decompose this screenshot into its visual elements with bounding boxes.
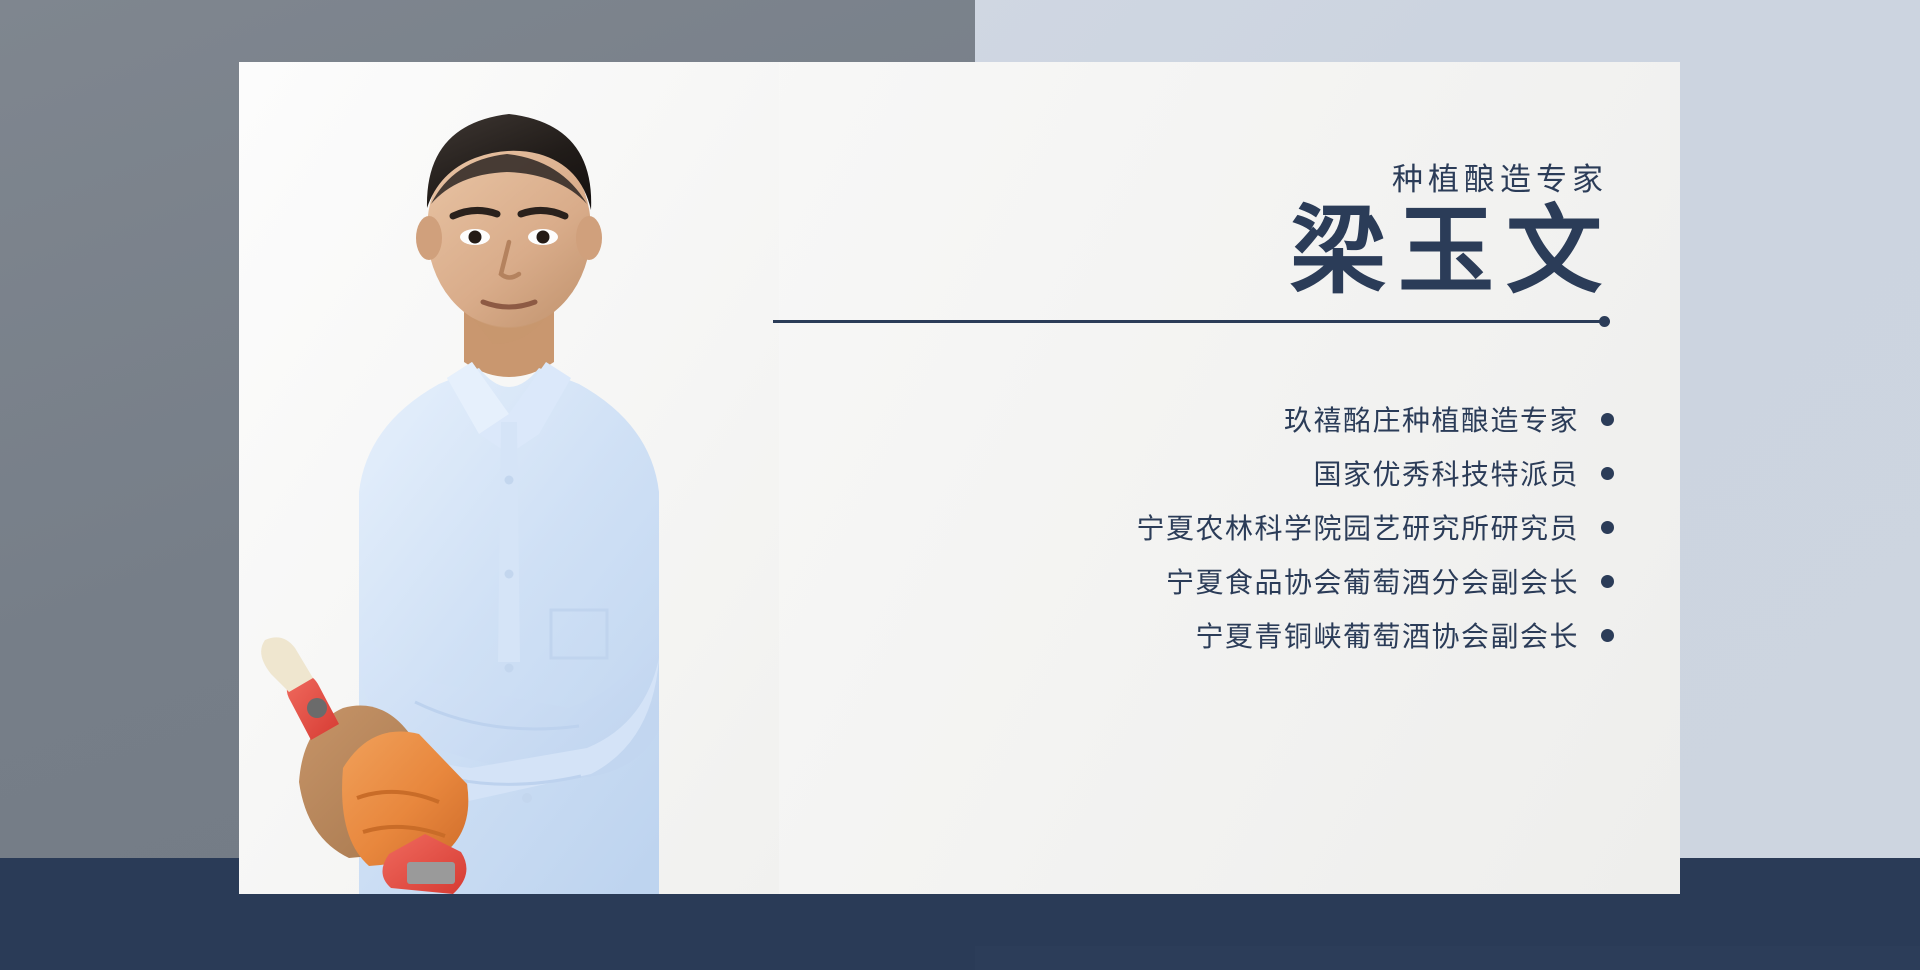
bullet-icon — [1601, 521, 1614, 534]
bullet-icon — [1601, 413, 1614, 426]
credential-text: 宁夏食品协会葡萄酒分会副会长 — [1166, 561, 1579, 601]
credential-text: 国家优秀科技特派员 — [1313, 453, 1579, 493]
expert-info-column: 种植酿造专家 梁玉文 玖禧酩庄种植酿造专家 国家优秀科技特派员 宁夏农林科学院园… — [839, 62, 1680, 894]
portrait-illustration — [239, 62, 779, 894]
bullet-icon — [1601, 575, 1614, 588]
expert-name: 梁玉文 — [1290, 198, 1614, 306]
expert-subtitle: 种植酿造专家 — [1392, 154, 1608, 199]
list-item: 玖禧酩庄种植酿造专家 — [1136, 392, 1614, 446]
divider — [773, 315, 1610, 327]
list-item: 宁夏食品协会葡萄酒分会副会长 — [1136, 554, 1614, 608]
divider-end-dot — [1599, 316, 1610, 327]
credential-text: 宁夏农林科学院园艺研究所研究员 — [1136, 507, 1579, 547]
list-item: 宁夏农林科学院园艺研究所研究员 — [1136, 500, 1614, 554]
credential-text: 玖禧酩庄种植酿造专家 — [1284, 399, 1579, 439]
profile-card: 种植酿造专家 梁玉文 玖禧酩庄种植酿造专家 国家优秀科技特派员 宁夏农林科学院园… — [239, 62, 1680, 894]
credential-text: 宁夏青铜峡葡萄酒协会副会长 — [1195, 615, 1579, 655]
background-navy-seam — [975, 946, 1920, 970]
expert-profile-banner: 种植酿造专家 梁玉文 玖禧酩庄种植酿造专家 国家优秀科技特派员 宁夏农林科学院园… — [0, 0, 1920, 970]
list-item: 宁夏青铜峡葡萄酒协会副会长 — [1136, 608, 1614, 662]
bullet-icon — [1601, 467, 1614, 480]
bullet-icon — [1601, 629, 1614, 642]
divider-line — [773, 320, 1604, 323]
portrait-photo — [239, 62, 779, 894]
credentials-list: 玖禧酩庄种植酿造专家 国家优秀科技特派员 宁夏农林科学院园艺研究所研究员 宁夏食… — [1136, 392, 1614, 662]
list-item: 国家优秀科技特派员 — [1136, 446, 1614, 500]
